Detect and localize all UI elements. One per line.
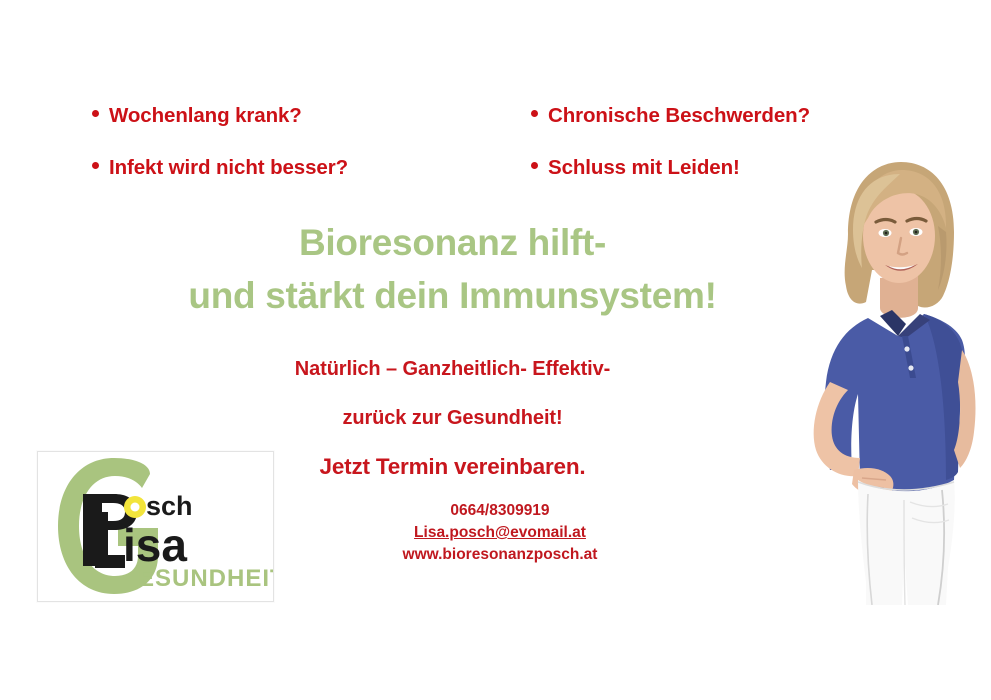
yellow-dot-icon bbox=[124, 496, 146, 518]
button-top bbox=[904, 346, 909, 351]
logo-tagline: ESUNDHEIT bbox=[138, 565, 273, 592]
bullet-dot-icon bbox=[531, 110, 538, 117]
bullet-dot-icon bbox=[531, 162, 538, 169]
logo-text-osch: sch bbox=[146, 491, 193, 521]
question-item-wochenlang-krank: Wochenlang krank? bbox=[92, 104, 302, 128]
question-label: Wochenlang krank? bbox=[109, 104, 302, 128]
question-item-infekt-nicht-besser: Infekt wird nicht besser? bbox=[92, 156, 348, 180]
button-bottom bbox=[908, 365, 913, 370]
logo-card: sch isa ESUNDHEIT bbox=[37, 451, 274, 602]
pupil-left bbox=[885, 232, 888, 235]
headline-line-1: Bioresonanz hilft- bbox=[0, 216, 905, 269]
bullet-dot-icon bbox=[92, 162, 99, 169]
question-label: Chronische Beschwerden? bbox=[548, 104, 810, 128]
question-label: Infekt wird nicht besser? bbox=[109, 156, 348, 180]
main-headline: Bioresonanz hilft- und stärkt dein Immun… bbox=[0, 216, 905, 323]
subclaim-natuerlich: Natürlich – Ganzheitlich- Effektiv- bbox=[0, 358, 905, 381]
logo-text-isa: isa bbox=[123, 519, 187, 571]
headline-line-2: und stärkt dein Immunsystem! bbox=[0, 269, 905, 322]
question-label: Schluss mit Leiden! bbox=[548, 156, 740, 180]
bullet-dot-icon bbox=[92, 110, 99, 117]
practitioner-figure bbox=[806, 150, 991, 605]
subclaim-zurueck-gesundheit: zurück zur Gesundheit! bbox=[0, 407, 905, 430]
flyer-canvas: Wochenlang krank? Infekt wird nicht bess… bbox=[0, 0, 991, 700]
question-bullets: Wochenlang krank? Infekt wird nicht bess… bbox=[0, 104, 880, 200]
question-item-chronische-beschwerden: Chronische Beschwerden? bbox=[531, 104, 810, 128]
question-item-schluss-mit-leiden: Schluss mit Leiden! bbox=[531, 156, 740, 180]
posch-lisa-gesundheit-logo: sch isa ESUNDHEIT bbox=[38, 452, 273, 601]
practitioner-photo bbox=[806, 150, 991, 605]
pupil-right bbox=[915, 231, 918, 234]
